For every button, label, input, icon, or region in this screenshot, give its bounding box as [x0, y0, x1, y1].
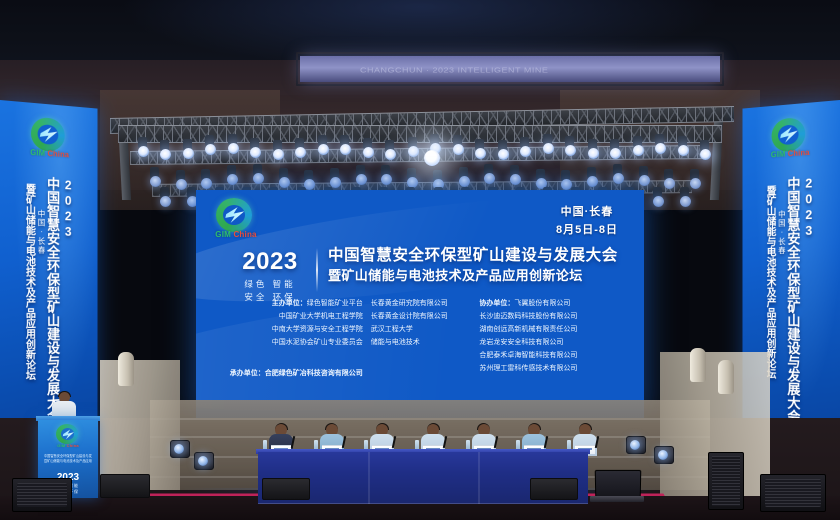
host-col1-3-cell: 中国水泥协会矿山专业委员会 [222, 337, 363, 350]
logo-text-china: China [788, 148, 810, 158]
cohost-4: 合肥泰禾卓海智能科技有限公司 [479, 352, 577, 359]
event-location: 中国·长春 [556, 204, 618, 222]
speaker-grill [765, 479, 821, 507]
balustrade-post [718, 360, 734, 394]
stage-light [653, 196, 664, 207]
cohost-4-cell: 合肥泰禾卓海智能科技有限公司 [473, 350, 622, 363]
stage-light [655, 143, 666, 154]
logo-text-gim: GIM [771, 150, 786, 160]
stage-light [543, 143, 554, 154]
spacer-cell [222, 350, 363, 363]
moving-head-light-1 [170, 440, 190, 458]
event-location-date: 中国·长春 8月5日-8日 [556, 204, 618, 239]
speaker-grill [712, 456, 740, 506]
undertaker-label-cell: 承办单位：合肥绿色矿冶科技咨询有限公司 [222, 368, 363, 381]
laptop-screen [595, 470, 642, 498]
stage-light [475, 148, 486, 159]
key-spotlight [424, 150, 440, 166]
spacer-cell-2 [363, 350, 474, 363]
stage-light [227, 174, 238, 185]
podium-caption: 中国智慧安全环保型矿山建设与发展大会 暨矿山储能与电池技术及产品应用创新论坛 [44, 454, 92, 465]
light-lens [658, 450, 668, 460]
host-col2-3: 储能与电池技术 [371, 339, 420, 346]
light-lens [630, 440, 640, 450]
stage-light [678, 145, 689, 156]
organizer-row: 中南大学资源与安全工程学院 武汉工程大学 湖南创远高新机械有限责任公司 [222, 324, 622, 337]
cohost-5: 苏州理工雷科传感技术有限公司 [479, 365, 577, 372]
moving-head-light-3 [626, 436, 646, 454]
speaker-grill [17, 483, 67, 507]
event-year: 2023 [232, 250, 308, 274]
host-col1-1: 中国矿业大学机电工程学院 [279, 313, 363, 320]
gim-china-logo: GIM China [210, 198, 262, 246]
step-line [150, 418, 710, 420]
stage-monitor-2 [262, 478, 310, 500]
stage-light [453, 144, 464, 155]
stage-light [160, 196, 171, 207]
cohost-3-cell: 龙岩龙安安全科技有限公司 [473, 337, 622, 350]
logo-text-china: China [233, 230, 256, 239]
light-lens [198, 456, 208, 466]
conference-stage-scene: CHANGCHUN · 2023 INTELLIGENT MINE GIM Ch… [0, 0, 840, 520]
stage-light [363, 147, 374, 158]
event-title-sub: 暨矿山储能与电池技术及产品应用创新论坛 [328, 268, 628, 284]
cohost-1: 长沙迪迈数码科技股份有限公司 [479, 313, 577, 320]
stage-light [318, 144, 329, 155]
stage-light [340, 144, 351, 155]
event-titles: 中国智慧安全环保型矿山建设与发展大会 暨矿山储能与电池技术及产品应用创新论坛 [328, 246, 628, 285]
cohost-1-cell: 长沙迪迈数码科技股份有限公司 [473, 311, 622, 324]
host-col2-1-cell: 长春黄金设计院有限公司 [363, 311, 474, 324]
host-col2-0: 长春黄金研究院有限公司 [371, 300, 448, 307]
event-title-main: 中国智慧安全环保型矿山建设与发展大会 [328, 246, 628, 265]
banner-left-logo: GIM China [25, 116, 74, 166]
event-year-block: 2023 绿色 智能 安全 环保 [232, 250, 308, 304]
host-label-cell: 主办单位：绿色智能矿业平台 [222, 298, 363, 311]
stage-light [680, 196, 691, 207]
laptop-base [590, 496, 644, 502]
organizer-row: 承办单位：合肥绿色矿冶科技咨询有限公司 苏州理工雷科传感技术有限公司 [222, 363, 622, 381]
speaker-stack-right [760, 474, 826, 512]
stage-light [700, 149, 711, 160]
stage-light [250, 147, 261, 158]
control-laptop [590, 470, 644, 504]
host-col1-3: 中国水泥协会矿山专业委员会 [272, 339, 363, 346]
host-col2-0-cell: 长春黄金研究院有限公司 [363, 298, 474, 311]
stage-light [150, 176, 161, 187]
organizer-block: 主办单位：绿色智能矿业平台 长春黄金研究院有限公司 协办单位：飞翼股份有限公司 … [222, 298, 622, 381]
undertaker-name: 合肥绿色矿冶科技咨询有限公司 [265, 370, 363, 377]
organizer-row: 中国矿业大学机电工程学院 长春黄金设计院有限公司 长沙迪迈数码科技股份有限公司 [222, 311, 622, 324]
stage-light [520, 146, 531, 157]
stage-light [498, 149, 509, 160]
logo-label: GIM China [53, 443, 83, 448]
stage-light [565, 145, 576, 156]
speaker-stack-left [12, 478, 72, 512]
upper-projection-screen: CHANGCHUN · 2023 INTELLIGENT MINE [300, 56, 720, 82]
podium-logo: GIM China [53, 424, 83, 450]
logo-label: GIM China [210, 230, 262, 239]
light-lens [174, 444, 184, 454]
balustrade-post [118, 352, 134, 386]
slogan-line-1: 绿色 智能 [232, 278, 308, 291]
stage-light [588, 148, 599, 159]
cohost-0: 飞翼股份有限公司 [514, 300, 570, 307]
logo-label: GIM China [766, 148, 815, 160]
host-col2-3-cell: 储能与电池技术 [363, 337, 474, 350]
led-video-wall: GIM China 中国·长春 8月5日-8日 2023 绿色 智能 安全 环保… [196, 190, 644, 418]
stage-light [613, 173, 624, 184]
host-col2-2: 武汉工程大学 [371, 326, 413, 333]
cohost-2-cell: 湖南创远高新机械有限责任公司 [473, 324, 622, 337]
cohost-head-cell: 协办单位：飞翼股份有限公司 [473, 298, 622, 311]
stage-light [587, 176, 598, 187]
logo-text-gim: GIM [57, 443, 65, 448]
host-col2-2-cell: 武汉工程大学 [363, 324, 474, 337]
stage-light [459, 176, 470, 187]
stage-light [356, 174, 367, 185]
stage-light [279, 177, 290, 188]
cohost-3: 龙岩龙安安全科技有限公司 [479, 339, 563, 346]
title-divider [316, 248, 318, 292]
undertaker-label: 承办单位： [230, 370, 265, 377]
cohost-2: 湖南创远高新机械有限责任公司 [479, 326, 577, 333]
stage-monitor-3 [530, 478, 578, 500]
speaker-tall-right [708, 452, 744, 510]
host-col1-0: 绿色智能矿业平台 [307, 300, 363, 307]
table-fold [478, 452, 480, 504]
banner-right-logo: GIM China [766, 116, 815, 166]
logo-text-china: China [47, 149, 69, 159]
stage-light [138, 146, 149, 157]
logo-text-gim: GIM [30, 148, 45, 158]
moving-head-light-2 [194, 452, 214, 470]
host-col2-1: 长春黄金设计院有限公司 [371, 313, 448, 320]
organizer-row: 中国水泥协会矿山专业委员会 储能与电池技术 龙岩龙安安全科技有限公司 [222, 337, 622, 350]
upper-screen-text: CHANGCHUN · 2023 INTELLIGENT MINE [360, 66, 548, 74]
spacer-cell-3 [363, 363, 474, 381]
logo-label: GIM China [25, 148, 74, 160]
stage-light [183, 148, 194, 159]
host-col1-2: 中南大学资源与安全工程学院 [272, 326, 363, 333]
logo-text-gim: GIM [215, 230, 231, 239]
moving-head-light-4 [654, 446, 674, 464]
stage-light [633, 145, 644, 156]
table-fold [368, 452, 370, 504]
balustrade-post [690, 348, 706, 382]
stage-light [273, 149, 284, 160]
organizer-row: 主办单位：绿色智能矿业平台 长春黄金研究院有限公司 协办单位：飞翼股份有限公司 [222, 298, 622, 311]
logo-text-china: China [67, 443, 79, 448]
host-col1-2-cell: 中南大学资源与安全工程学院 [222, 324, 363, 337]
marble-stair-left [100, 360, 180, 490]
stage-light [201, 178, 212, 189]
cohost-5-cell: 苏州理工雷科传感技术有限公司 [473, 363, 622, 381]
stage-light [639, 175, 650, 186]
organizer-row: 合肥泰禾卓海智能科技有限公司 [222, 350, 622, 363]
stage-light [408, 146, 419, 157]
stage-monitor-1 [100, 474, 150, 498]
host-col1-1-cell: 中国矿业大学机电工程学院 [222, 311, 363, 324]
podium-caption-line-2: 暨矿山储能与电池技术及产品应用创新论坛 [44, 459, 92, 464]
stage-light [176, 179, 187, 190]
event-date: 8月5日-8日 [556, 222, 618, 240]
host-label: 主办单位： [272, 300, 307, 307]
cohost-label: 协办单位： [479, 300, 514, 307]
